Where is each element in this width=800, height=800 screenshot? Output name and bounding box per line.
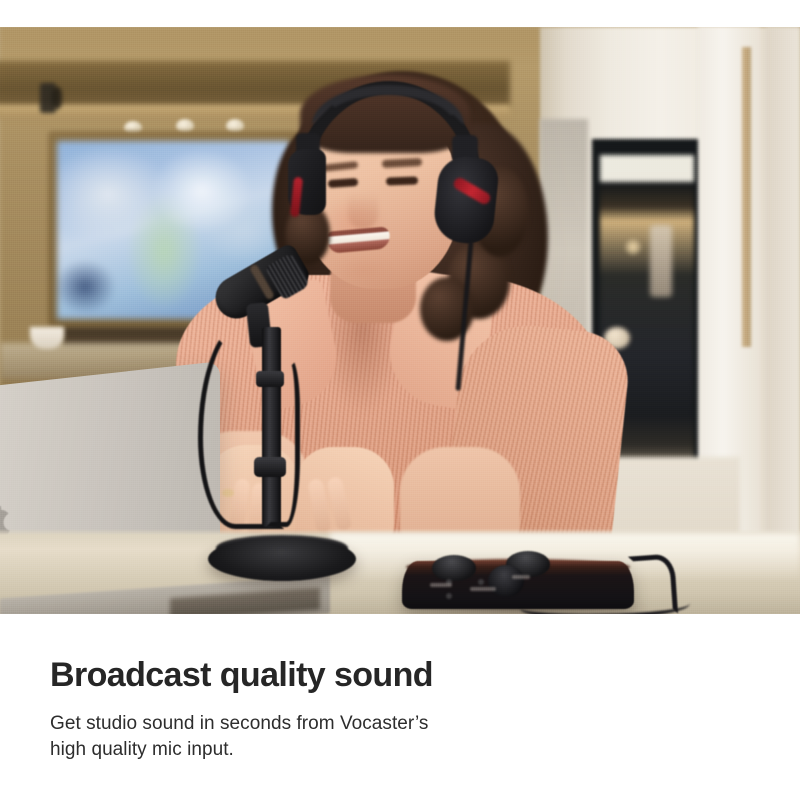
interface-label-2 [470,587,496,591]
feature-description-line-1: Get studio sound in seconds from Vocaste… [50,713,429,734]
photo-scene [0,27,800,614]
interface-label-1 [430,583,452,587]
product-feature-card: Broadcast quality sound Get studio sound… [0,0,800,800]
interface-main-dial [488,565,524,597]
interface-knob-left [432,555,476,581]
interface-cable-front [520,593,690,614]
nose [348,193,378,229]
microphone-cable-lower [266,357,300,527]
caption-block: Broadcast quality sound Get studio sound… [50,655,610,763]
microphone-base [208,537,356,581]
feature-headline: Broadcast quality sound [50,655,610,695]
interface-indicator-2 [446,593,452,599]
interface-indicator-3 [478,579,484,585]
feature-description: Get studio sound in seconds from Vocaste… [50,711,430,763]
interface-label-3 [512,575,530,579]
chin [334,255,392,287]
feature-description-line-2: high quality mic input. [50,739,234,760]
lifestyle-photo [0,27,800,614]
